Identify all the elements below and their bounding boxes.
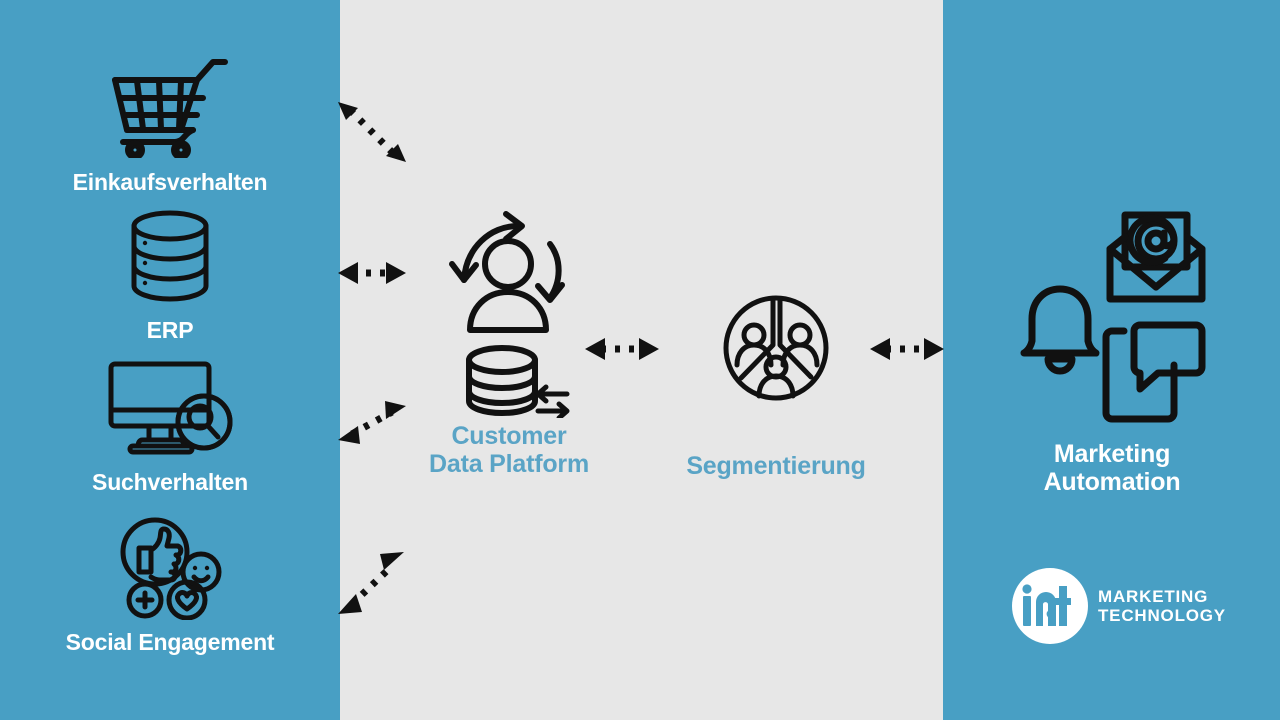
source-label: Suchverhalten bbox=[0, 470, 340, 496]
node-marketing-automation[interactable]: Marketing Automation bbox=[962, 200, 1262, 496]
shopping-cart-icon bbox=[0, 52, 340, 164]
logo-line-2: TECHNOLOGY bbox=[1098, 606, 1226, 625]
source-node-social-engagement[interactable]: Social Engagement bbox=[0, 512, 340, 656]
source-label: ERP bbox=[0, 318, 340, 344]
source-node-erp[interactable]: ERP bbox=[0, 200, 340, 344]
social-engagement-icon bbox=[0, 512, 340, 624]
node-label: Customer Data Platform bbox=[380, 422, 638, 478]
arrow-social-to-cdp bbox=[336, 550, 408, 625]
node-segmentierung[interactable]: Segmentierung bbox=[660, 272, 892, 480]
node-label: Segmentierung bbox=[660, 452, 892, 480]
arrow-shopping-to-cdp bbox=[336, 96, 408, 173]
diagram-canvas: Einkaufsverhalten ERP bbox=[0, 0, 1280, 720]
source-label: Einkaufsverhalten bbox=[0, 170, 340, 196]
database-icon bbox=[0, 200, 340, 312]
node-label: Marketing Automation bbox=[962, 440, 1262, 496]
marketing-automation-icon bbox=[962, 200, 1262, 430]
source-node-suchverhalten[interactable]: Suchverhalten bbox=[0, 352, 340, 496]
source-node-einkaufsverhalten[interactable]: Einkaufsverhalten bbox=[0, 52, 340, 196]
segmentation-icon bbox=[660, 272, 892, 424]
arrow-cdp-to-segmentation bbox=[583, 331, 661, 372]
logo-line-1: MARKETING bbox=[1098, 587, 1226, 606]
logo-wordmark: MARKETING TECHNOLOGY bbox=[1098, 587, 1226, 625]
brand-logo[interactable]: MARKETING TECHNOLOGY bbox=[1012, 568, 1226, 644]
logo-mark-icon bbox=[1012, 568, 1088, 644]
source-label: Social Engagement bbox=[0, 630, 340, 656]
monitor-search-icon bbox=[0, 352, 340, 464]
arrow-segmentation-to-marketing-automation bbox=[868, 331, 946, 372]
arrow-erp-to-cdp bbox=[336, 252, 408, 301]
arrow-search-to-cdp bbox=[336, 396, 408, 457]
customer-data-platform-icon bbox=[380, 205, 638, 420]
